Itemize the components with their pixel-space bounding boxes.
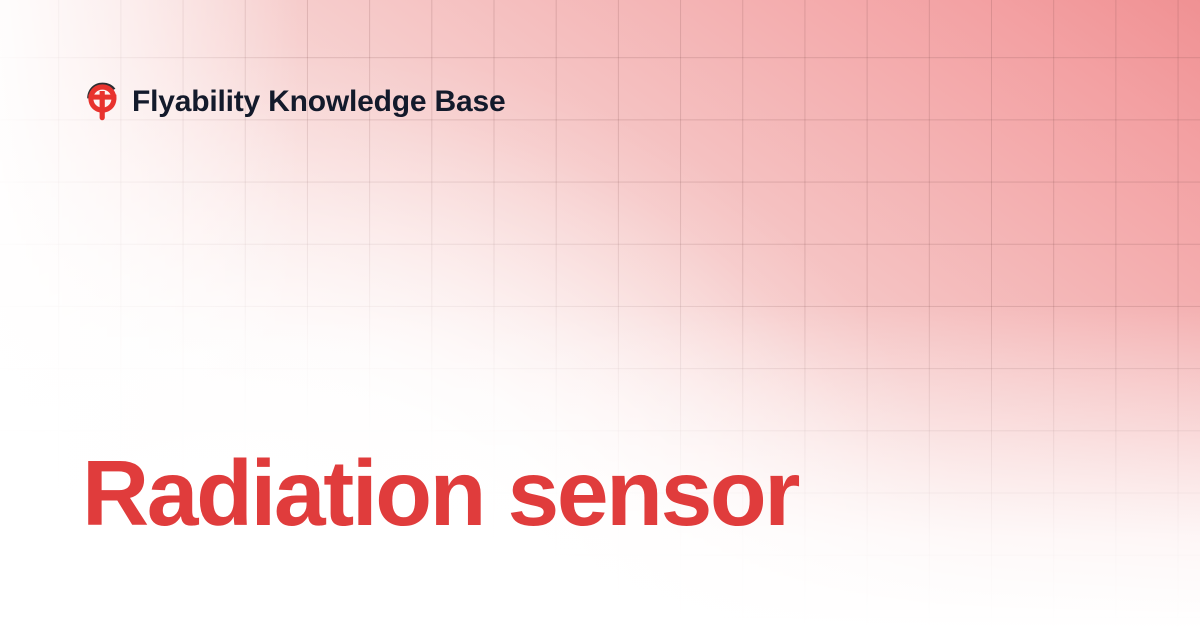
brand-header[interactable]: Flyability Knowledge Base <box>84 79 505 125</box>
flyability-logo-icon <box>84 81 118 123</box>
brand-name-label: Flyability Knowledge Base <box>132 87 505 117</box>
card-content: Flyability Knowledge Base Radiation sens… <box>0 0 1200 630</box>
page-title: Radiation sensor <box>82 443 798 543</box>
og-card: Flyability Knowledge Base Radiation sens… <box>0 0 1200 630</box>
